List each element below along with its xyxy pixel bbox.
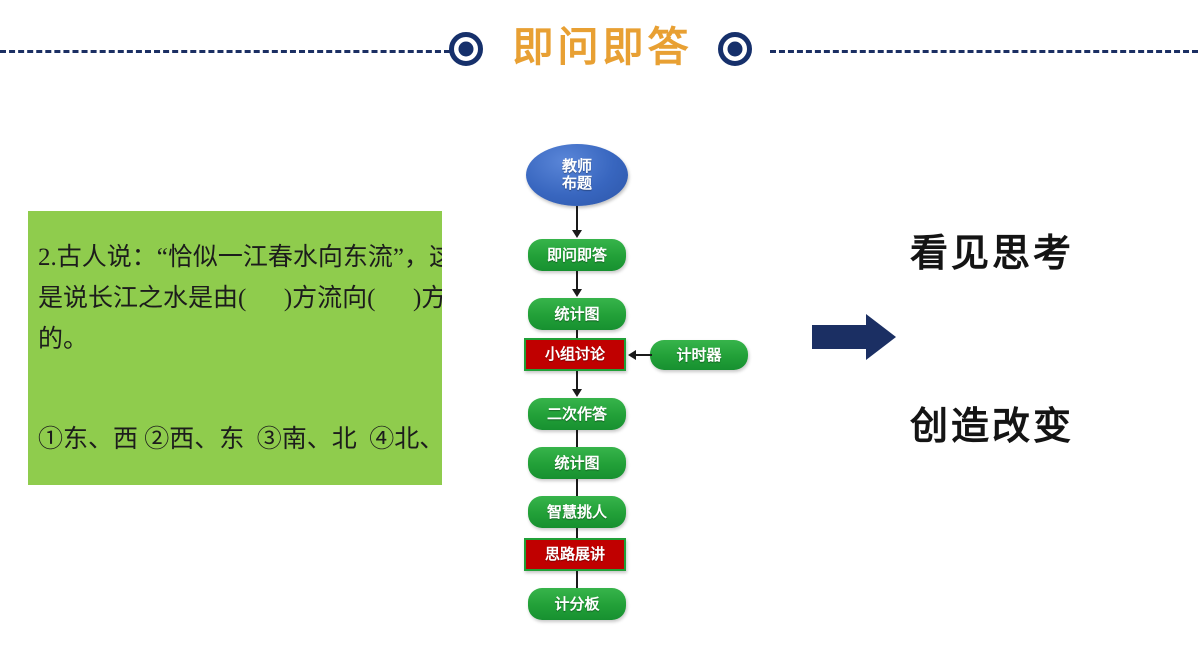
- flow-node-chart-1: 统计图: [528, 298, 626, 330]
- question-stem: 2.古人说：“恰似一江春水向东流”，这 是说长江之水是由( )方流向( )方 的…: [38, 237, 442, 360]
- flow-connector-4: [576, 371, 578, 391]
- takeaway-text-top: 看见思考: [910, 222, 1190, 277]
- right-arrow-icon: [812, 314, 896, 360]
- flow-node-scoreboard: 计分板: [528, 588, 626, 620]
- flow-node-group-discussion: 小组讨论: [524, 338, 626, 371]
- flow-node-label: 教师 布题: [562, 158, 592, 192]
- flow-arrowhead-1: [572, 230, 582, 238]
- header-divider-left: [0, 50, 450, 53]
- flow-node-label: 小组讨论: [545, 346, 605, 363]
- flow-node-label: 计时器: [676, 347, 721, 364]
- question-card: 2.古人说：“恰似一江春水向东流”，这 是说长江之水是由( )方流向( )方 的…: [28, 211, 442, 485]
- flow-arrowhead-2: [572, 289, 582, 297]
- flow-arrowhead-timer: [628, 350, 636, 360]
- flow-node-smart-pick: 智慧挑人: [528, 496, 626, 528]
- flow-connector-1: [576, 206, 578, 232]
- flow-node-chart-2: 统计图: [528, 447, 626, 479]
- flow-node-label: 即问即答: [547, 247, 607, 264]
- flow-arrowhead-4: [572, 389, 582, 397]
- header-divider-right: [770, 50, 1198, 53]
- target-circle-icon-left: [449, 32, 483, 66]
- flow-connector-timer: [636, 354, 652, 356]
- flow-node-label: 智慧挑人: [547, 504, 607, 521]
- page-title: 即问即答: [495, 18, 710, 76]
- flow-node-idea-present: 思路展讲: [524, 538, 626, 571]
- lesson-flowchart: 教师 布题 即问即答 统计图 小组讨论 计时器 二次作答 统计图 智慧挑人 思: [500, 140, 780, 630]
- flow-node-label: 二次作答: [547, 406, 607, 423]
- flow-connector-2: [576, 271, 578, 291]
- page-header: 即问即答: [0, 0, 1198, 100]
- flow-node-label: 统计图: [554, 306, 599, 323]
- flow-node-label: 思路展讲: [545, 546, 605, 563]
- flow-node-label: 计分板: [554, 596, 599, 613]
- flow-node-label: 统计图: [554, 455, 599, 472]
- question-options: ①东、西 ②西、东 ③南、北 ④北、南: [38, 423, 442, 457]
- flow-node-second-answer: 二次作答: [528, 398, 626, 430]
- flow-node-instant-qa: 即问即答: [528, 239, 626, 271]
- flow-node-timer: 计时器: [650, 340, 748, 370]
- target-circle-icon-right: [718, 32, 752, 66]
- takeaway-text-bottom: 创造改变: [910, 395, 1190, 450]
- takeaway-block: 看见思考 创造改变: [800, 200, 1190, 470]
- flow-node-teacher-assign: 教师 布题: [526, 144, 628, 206]
